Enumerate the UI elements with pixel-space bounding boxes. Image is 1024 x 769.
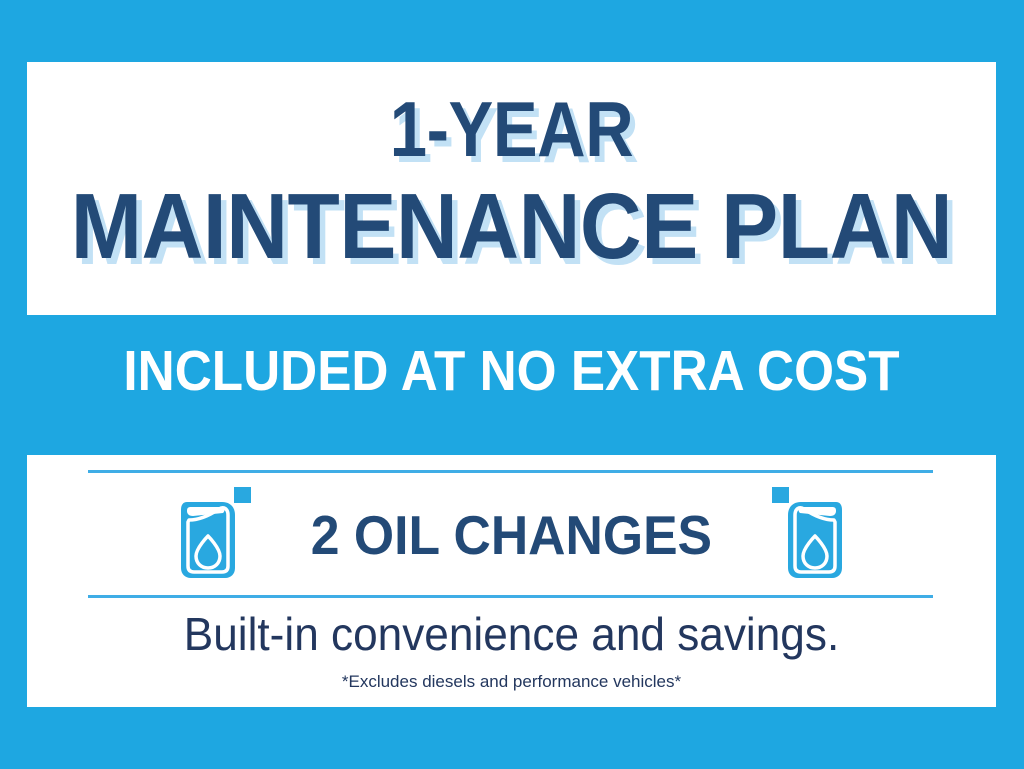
feature-label: 2 OIL CHANGES: [311, 508, 712, 563]
headline-line-2: MAINTENANCE PLAN: [66, 180, 957, 273]
divider-top: [88, 470, 933, 473]
divider-bottom: [88, 595, 933, 598]
details-card: 2 OIL CHANGES Built-in convenience and s…: [27, 455, 996, 707]
feature-row: 2 OIL CHANGES: [27, 483, 996, 587]
subheadline-band: INCLUDED AT NO EXTRA COST: [27, 315, 996, 455]
subheadline-text: INCLUDED AT NO EXTRA COST: [75, 343, 947, 400]
tagline-text: Built-in convenience and savings.: [46, 611, 976, 657]
promo-poster: 1-YEAR MAINTENANCE PLAN INCLUDED AT NO E…: [0, 0, 1024, 769]
headline-line-1: 1-YEAR: [95, 90, 928, 168]
fineprint-text: *Excludes diesels and performance vehicl…: [27, 673, 996, 690]
headline-card: 1-YEAR MAINTENANCE PLAN: [27, 62, 996, 315]
oil-jug-icon: [771, 486, 845, 585]
oil-jug-icon: [178, 486, 252, 585]
